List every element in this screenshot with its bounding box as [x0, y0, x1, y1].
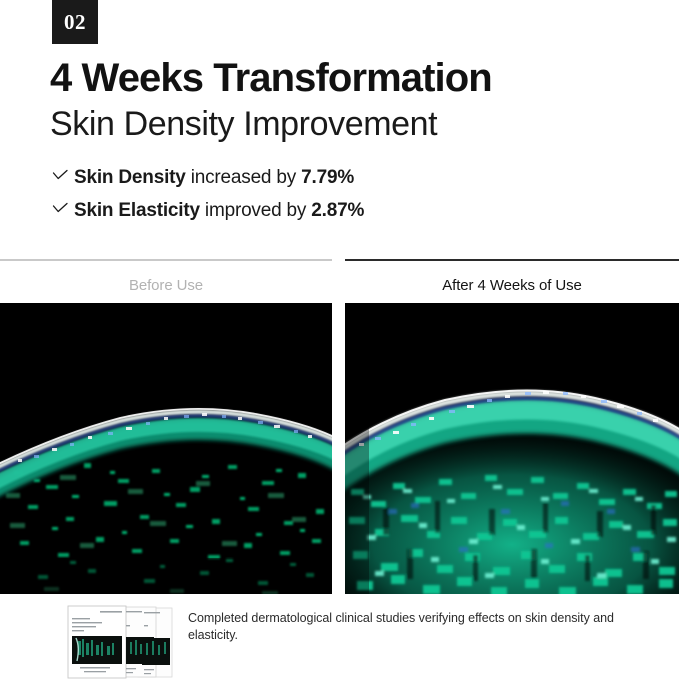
result-value: 2.87%: [311, 200, 364, 221]
result-metric: Skin Elasticity: [74, 200, 200, 221]
footer-caption: Completed dermatological clinical studie…: [188, 610, 648, 644]
check-icon: [52, 202, 74, 215]
ultrasound-before-graphic: [0, 303, 332, 594]
result-metric: Skin Density: [74, 167, 186, 188]
ultrasound-image-before: [0, 303, 332, 594]
result-verb: increased by: [186, 167, 302, 188]
result-text: Skin Elasticity improved by 2.87%: [74, 201, 364, 220]
list-item: Skin Density increased by 7.79%: [52, 168, 532, 201]
section-number-badge: 02: [52, 0, 98, 44]
page-title: 4 Weeks Transformation: [50, 58, 492, 98]
list-item: Skin Elasticity improved by 2.87%: [52, 201, 532, 234]
after-column-label: After 4 Weeks of Use: [345, 277, 679, 294]
after-column-divider: [345, 259, 679, 261]
clinical-report-thumbnail: [64, 603, 174, 679]
report-thumbnail-graphic: [64, 603, 174, 679]
before-column-label: Before Use: [0, 277, 332, 294]
before-column-divider: [0, 259, 332, 261]
ultrasound-after-graphic: [345, 303, 679, 594]
page-subtitle: Skin Density Improvement: [50, 104, 437, 145]
result-text: Skin Density increased by 7.79%: [74, 168, 354, 187]
result-verb: improved by: [200, 200, 311, 221]
check-icon: [52, 169, 74, 182]
result-value: 7.79%: [301, 167, 354, 188]
results-list: Skin Density increased by 7.79% Skin Ela…: [52, 168, 532, 234]
section-number-text: 02: [64, 10, 86, 35]
ultrasound-image-after: [345, 303, 679, 594]
